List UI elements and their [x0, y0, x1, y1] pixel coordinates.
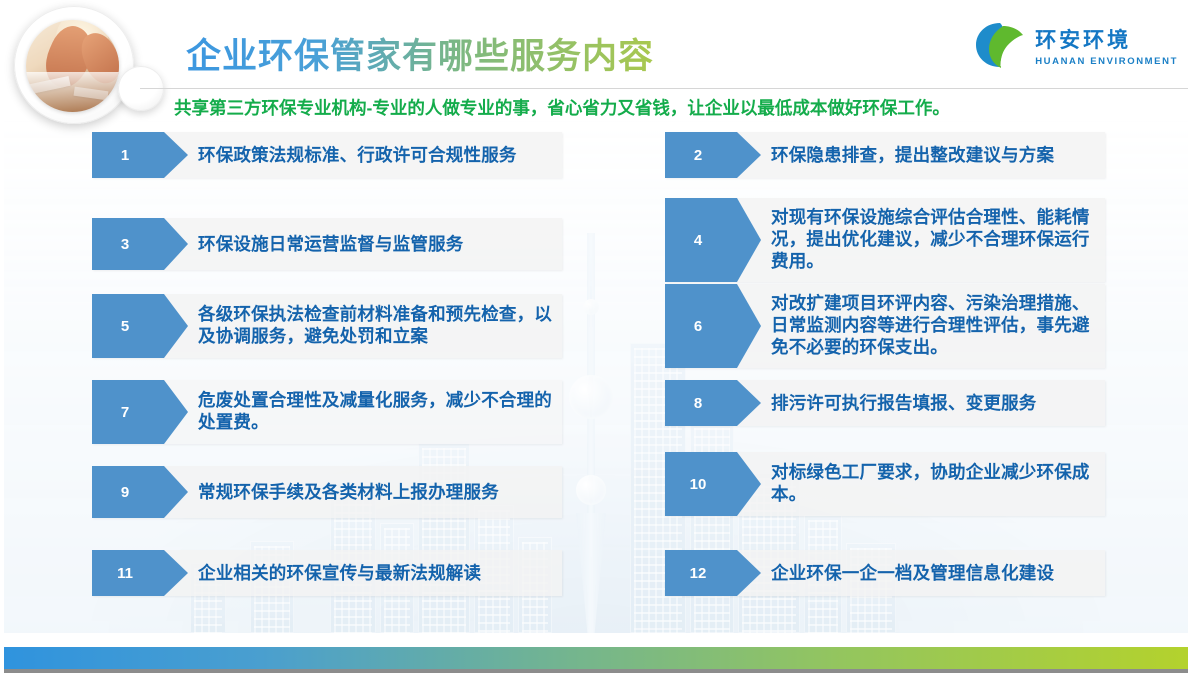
service-item-7[interactable]: 7 危废处置合理性及减量化服务，减少不合理的处置费。 — [92, 380, 562, 444]
item-number-badge: 8 — [665, 380, 737, 426]
oriental-pearl-tower — [556, 233, 626, 633]
leaf-circle-icon — [973, 20, 1027, 70]
page-title: 企业环保管家有哪些服务内容 — [186, 28, 654, 79]
item-label: 对现有环保设施综合评估合理性、能耗情况，提出优化建议，减少不合理环保运行费用。 — [737, 198, 1105, 282]
item-number-badge: 2 — [665, 132, 737, 178]
header-divider — [140, 88, 1192, 89]
item-number-badge: 7 — [92, 380, 164, 444]
service-item-3[interactable]: 3 环保设施日常运营监督与监管服务 — [92, 218, 562, 270]
brand-logo: 环安环境 HUANAN ENVIRONMENT — [973, 20, 1178, 70]
item-number-badge: 10 — [665, 452, 737, 516]
service-item-11[interactable]: 11 企业相关的环保宣传与最新法规解读 — [92, 550, 562, 596]
item-label: 企业环保一企一档及管理信息化建设 — [737, 550, 1105, 596]
slide-edge-left — [0, 0, 4, 673]
item-number-badge: 3 — [92, 218, 164, 270]
item-label: 排污许可执行报告填报、变更服务 — [737, 380, 1105, 426]
item-number-badge: 1 — [92, 132, 164, 178]
service-item-4[interactable]: 4 对现有环保设施综合评估合理性、能耗情况，提出优化建议，减少不合理环保运行费用… — [665, 198, 1105, 282]
item-label: 对标绿色工厂要求，协助企业减少环保成本。 — [737, 452, 1105, 516]
service-item-10[interactable]: 10 对标绿色工厂要求，协助企业减少环保成本。 — [665, 452, 1105, 516]
logo-text: 环安环境 HUANAN ENVIRONMENT — [1035, 24, 1178, 67]
item-number-badge: 11 — [92, 550, 164, 596]
service-item-6[interactable]: 6 对改扩建项目环评内容、污染治理措施、日常监测内容等进行合理性评估，事先避免不… — [665, 284, 1105, 368]
team-photo — [26, 20, 119, 112]
item-label: 危废处置合理性及减量化服务，减少不合理的处置费。 — [164, 380, 562, 444]
service-item-2[interactable]: 2 环保隐患排查，提出整改建议与方案 — [665, 132, 1105, 178]
bottom-accent-bar — [0, 647, 1192, 669]
item-label: 环保设施日常运营监督与监管服务 — [164, 218, 562, 270]
item-number-badge: 12 — [665, 550, 737, 596]
item-number-badge: 4 — [665, 198, 737, 282]
item-number-badge: 9 — [92, 466, 164, 518]
item-number-badge: 5 — [92, 294, 164, 358]
item-label: 环保隐患排查，提出整改建议与方案 — [737, 132, 1105, 178]
bottom-shadow — [0, 669, 1192, 673]
item-label: 企业相关的环保宣传与最新法规解读 — [164, 550, 562, 596]
item-label: 各级环保执法检查前材料准备和预先检查，以及协调服务，避免处罚和立案 — [164, 294, 562, 358]
photo-ring — [14, 6, 134, 124]
slide-edge-right — [1188, 0, 1192, 673]
service-item-8[interactable]: 8 排污许可执行报告填报、变更服务 — [665, 380, 1105, 426]
slide-canvas: 企业环保管家有哪些服务内容 共享第三方环保专业机构-专业的人做专业的事，省心省力… — [0, 0, 1192, 673]
service-item-12[interactable]: 12 企业环保一企一档及管理信息化建设 — [665, 550, 1105, 596]
service-item-1[interactable]: 1 环保政策法规标准、行政许可合规性服务 — [92, 132, 562, 178]
item-label: 常规环保手续及各类材料上报办理服务 — [164, 466, 562, 518]
service-item-5[interactable]: 5 各级环保执法检查前材料准备和预先检查，以及协调服务，避免处罚和立案 — [92, 294, 562, 358]
page-subtitle: 共享第三方环保专业机构-专业的人做专业的事，省心省力又省钱，让企业以最低成本做好… — [174, 95, 950, 120]
item-label: 对改扩建项目环评内容、污染治理措施、日常监测内容等进行合理性评估，事先避免不必要… — [737, 284, 1105, 368]
logo-name-cn: 环安环境 — [1035, 24, 1178, 54]
item-label: 环保政策法规标准、行政许可合规性服务 — [164, 132, 562, 178]
service-item-9[interactable]: 9 常规环保手续及各类材料上报办理服务 — [92, 466, 562, 518]
item-number-badge: 6 — [665, 284, 737, 368]
logo-name-en: HUANAN ENVIRONMENT — [1035, 56, 1178, 67]
